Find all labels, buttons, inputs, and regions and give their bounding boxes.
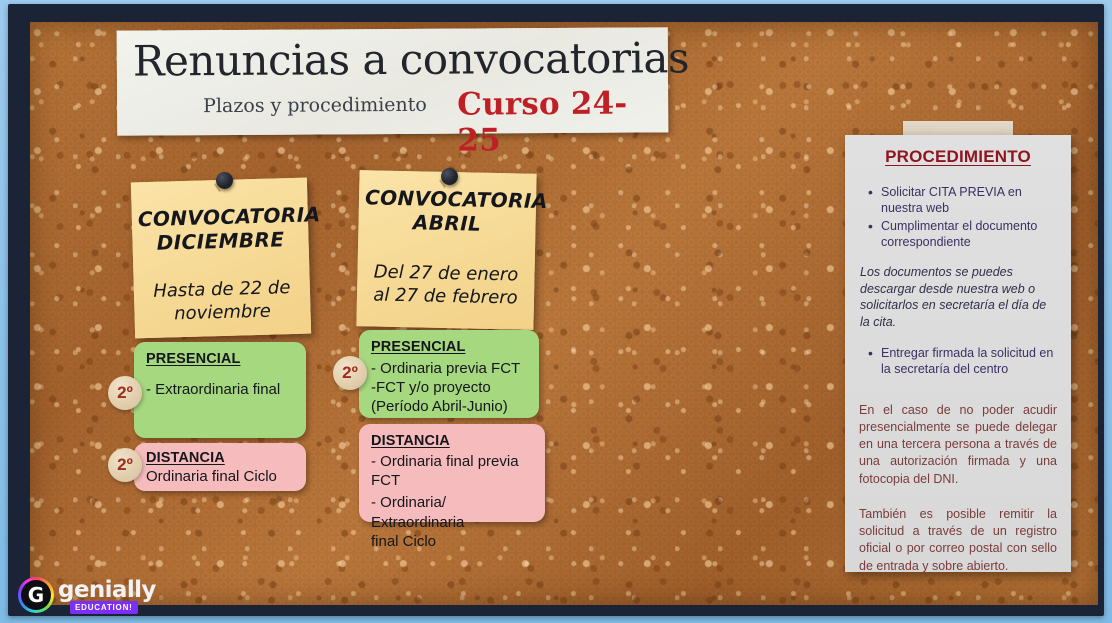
info-box-abril-presencial: PRESENCIAL - Ordinaria previa FCT -FCT y… bbox=[359, 330, 539, 418]
genially-mark-icon: G bbox=[18, 577, 54, 613]
badge-course-level: 2º bbox=[108, 376, 142, 410]
sticky-note-diciembre: CONVOCATORIA DICIEMBRE Hasta de 22 de no… bbox=[131, 178, 311, 339]
procedure-panel: PROCEDIMIENTO Solicitar CITA PREVIA en n… bbox=[845, 135, 1071, 572]
info-box-diciembre-distancia: DISTANCIA Ordinaria final Ciclo bbox=[134, 443, 306, 491]
info-box-body: - Ordinaria previa FCT -FCT y/o proyecto… bbox=[371, 359, 528, 417]
genially-wordmark: genially bbox=[58, 577, 156, 603]
pushpin-head bbox=[216, 172, 233, 189]
info-box-body-secondary: - Ordinaria/ Extraordinaria final Ciclo bbox=[371, 493, 534, 551]
page-title: Renuncias a convocatorias bbox=[133, 33, 653, 85]
info-box-heading: DISTANCIA bbox=[371, 433, 534, 449]
info-box-heading: PRESENCIAL bbox=[371, 339, 528, 355]
pushpin-icon bbox=[439, 168, 459, 188]
info-box-heading: DISTANCIA bbox=[146, 450, 295, 466]
info-box-body: - Ordinaria final previa FCT bbox=[371, 452, 534, 490]
note-date-abril: Del 27 de enero al 27 de febrero bbox=[363, 261, 529, 309]
genially-education-badge: EDUCATION! bbox=[70, 601, 138, 614]
procedure-paragraph-1: En el caso de no poder acudir presencial… bbox=[859, 402, 1057, 488]
procedure-note: Los documentos se puedes descargar desde… bbox=[860, 264, 1058, 330]
list-item: Cumplimentar el documento correspondient… bbox=[881, 218, 1058, 251]
procedure-title: PROCEDIMIENTO bbox=[858, 147, 1058, 167]
info-box-abril-distancia: DISTANCIA - Ordinaria final previa FCT -… bbox=[359, 424, 545, 522]
page-subtitle: Plazos y procedimiento bbox=[203, 94, 427, 117]
list-item: Entregar firmada la solicitud en la secr… bbox=[881, 345, 1058, 378]
title-card: Renuncias a convocatorias Plazos y proce… bbox=[117, 27, 669, 135]
genially-mark-letter: G bbox=[21, 580, 51, 610]
pushpin-icon bbox=[214, 172, 234, 192]
info-box-diciembre-presencial: PRESENCIAL - Extraordinaria final bbox=[134, 342, 306, 438]
info-box-heading: PRESENCIAL bbox=[146, 351, 295, 367]
procedure-paragraph-2: También es posible remitir la solicitud … bbox=[859, 506, 1057, 575]
note-title-abril: CONVOCATORIA ABRIL bbox=[364, 186, 530, 237]
genially-logo[interactable]: G genially EDUCATION! bbox=[18, 575, 144, 615]
info-box-body: - Extraordinaria final bbox=[146, 380, 295, 399]
genially-mark-inner: G bbox=[21, 580, 51, 610]
sticky-note-abril: CONVOCATORIA ABRIL Del 27 de enero al 27… bbox=[356, 170, 536, 330]
page-background: Renuncias a convocatorias Plazos y proce… bbox=[0, 0, 1112, 623]
list-item: Solicitar CITA PREVIA en nuestra web bbox=[881, 184, 1058, 217]
procedure-steps-list-1: Solicitar CITA PREVIA en nuestra web Cum… bbox=[858, 184, 1058, 250]
pushpin-head bbox=[441, 168, 458, 185]
badge-course-level: 2º bbox=[333, 356, 367, 390]
info-box-body: Ordinaria final Ciclo bbox=[146, 467, 295, 486]
note-title-diciembre: CONVOCATORIA DICIEMBRE bbox=[138, 204, 303, 256]
note-date-diciembre: Hasta de 22 de noviembre bbox=[140, 277, 305, 327]
procedure-steps-list-2: Entregar firmada la solicitud en la secr… bbox=[858, 345, 1058, 378]
badge-course-level: 2º bbox=[108, 448, 142, 482]
course-label: Curso 24-25 bbox=[457, 85, 668, 158]
